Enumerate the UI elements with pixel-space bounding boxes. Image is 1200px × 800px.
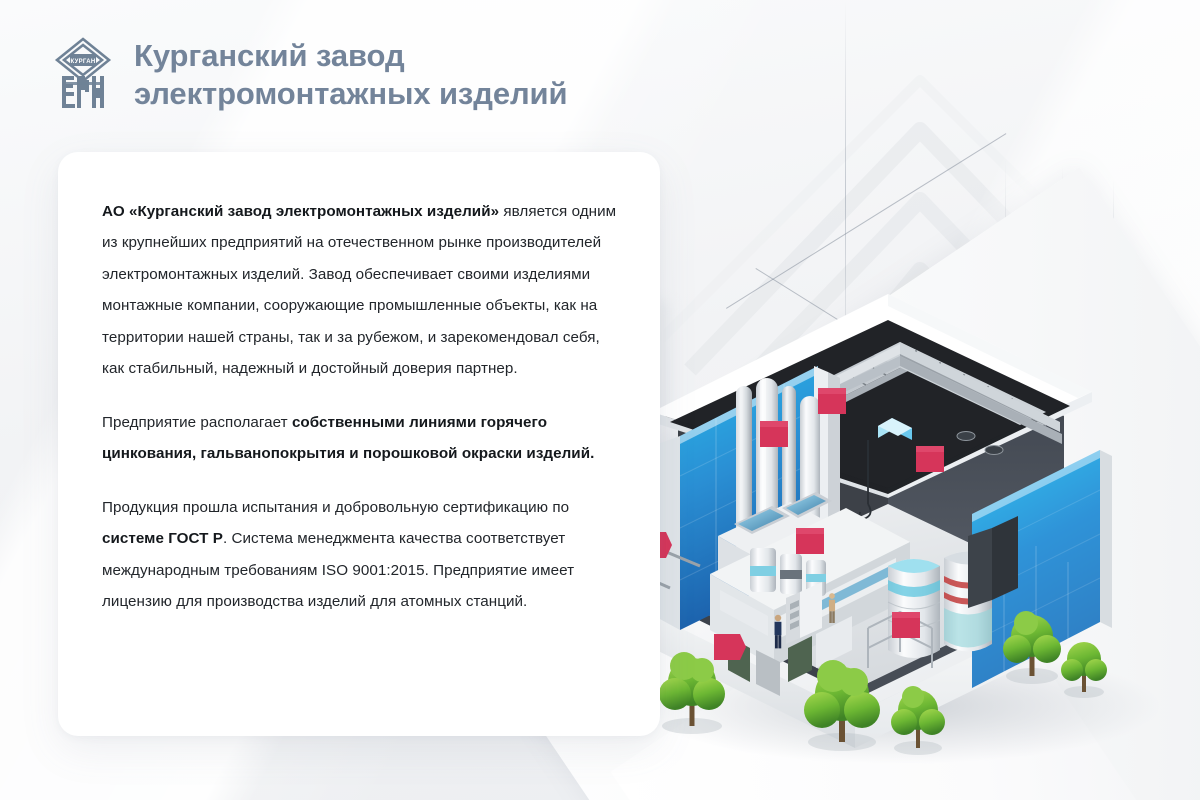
page-header: КУРГАН	[52, 36, 567, 114]
isometric-factory-illustration	[600, 236, 1200, 776]
page-title: Курганский завод электромонтажных издели…	[134, 37, 567, 113]
tree	[1061, 642, 1107, 698]
svg-text:КУРГАН: КУРГАН	[70, 59, 95, 65]
emphasis-text: системе ГОСТ Р	[102, 530, 223, 547]
about-paragraph-p1: АО «Курганский завод электромонтажных из…	[102, 196, 620, 385]
company-logo-icon[interactable]: КУРГАН	[52, 36, 114, 114]
about-company-card: АО «Курганский завод электромонтажных из…	[58, 152, 660, 736]
about-company-text: АО «Курганский завод электромонтажных из…	[102, 196, 620, 618]
about-paragraph-p2: Предприятие располагает собственными лин…	[102, 407, 620, 470]
callout-marker	[714, 634, 746, 660]
poster-canvas: КУРГАН	[0, 0, 1200, 800]
body-text: является одним из крупнейших предприятий…	[102, 203, 616, 377]
about-paragraph-p3: Продукция прошла испытания и добровольну…	[102, 492, 620, 618]
callout-marker	[760, 421, 788, 447]
callout-marker	[892, 612, 920, 638]
callout-marker	[796, 528, 824, 554]
body-text: Продукция прошла испытания и добровольну…	[102, 499, 569, 516]
emphasis-text: АО «Курганский завод электромонтажных из…	[102, 203, 503, 220]
body-text: Предприятие располагает	[102, 414, 292, 431]
callout-marker	[916, 446, 944, 472]
callout-marker	[818, 388, 846, 414]
